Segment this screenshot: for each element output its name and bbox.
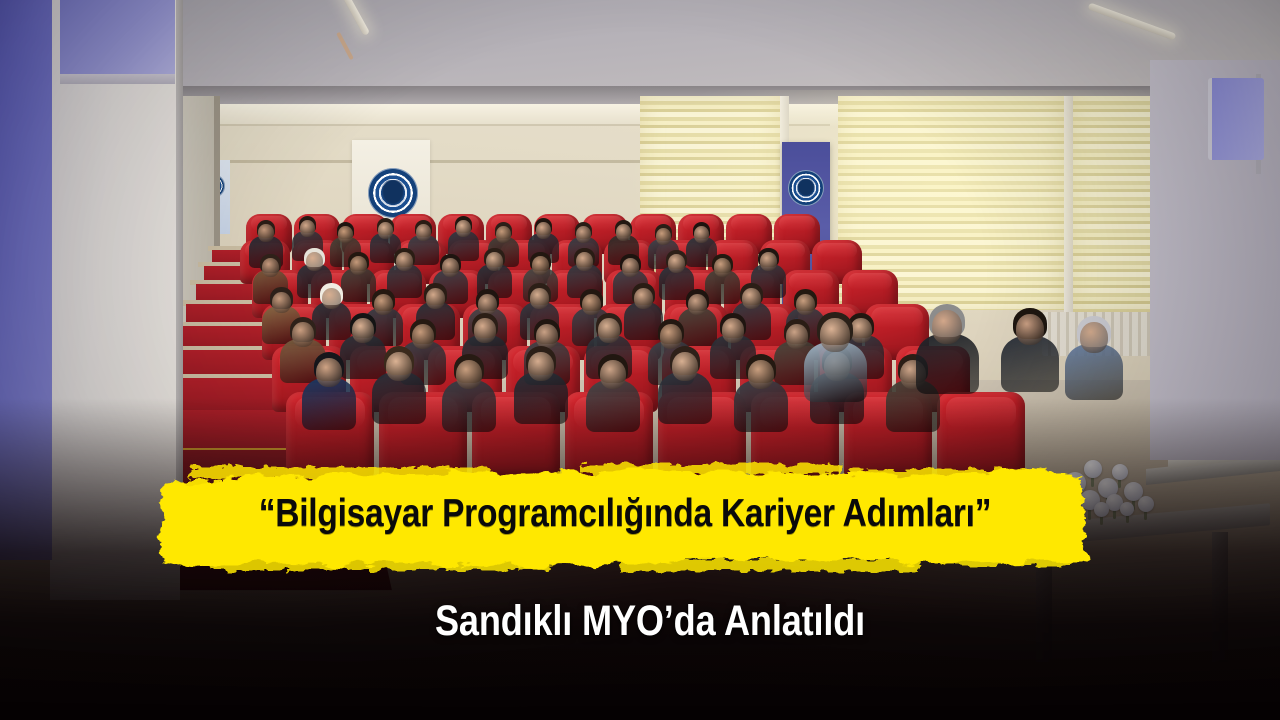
person-head (272, 292, 291, 313)
person-head (672, 352, 698, 381)
flower-bloom (1112, 464, 1128, 480)
person-head (412, 324, 434, 349)
person-head (760, 252, 777, 271)
person-head (386, 352, 412, 381)
person-head (258, 224, 274, 242)
person-head (352, 318, 374, 343)
person-head (396, 252, 413, 271)
brush-speckle-top (190, 467, 490, 479)
person-head (694, 226, 709, 243)
person-head (600, 360, 626, 389)
headline-line-1: “Bilgisayar Programcılığında Kariyer Adı… (217, 492, 1034, 536)
brush-speckle-top (580, 464, 840, 474)
flower-bloom (1138, 496, 1154, 512)
person-head (742, 288, 761, 309)
news-photo-overlay: “Bilgisayar Programcılığında Kariyer Adı… (0, 0, 1280, 720)
person-head (1080, 322, 1108, 353)
person-head (416, 224, 431, 241)
person-head (622, 258, 639, 277)
person-head (316, 358, 342, 387)
person-head (532, 256, 549, 275)
brush-speckle-bottom (210, 557, 550, 570)
university-emblem-icon (788, 170, 824, 206)
wall-speaker-icon (60, 0, 175, 78)
person-head (714, 258, 731, 277)
person-head (668, 254, 685, 273)
person-head (536, 222, 551, 239)
person-head (442, 258, 459, 277)
brush-speckle-bottom (620, 559, 920, 571)
person-head (474, 318, 496, 343)
person-head (426, 288, 445, 309)
person-head (786, 324, 808, 349)
flower-bloom (1120, 502, 1134, 516)
person-head (688, 294, 707, 315)
person-head (616, 224, 631, 241)
person-head (850, 318, 872, 343)
person-head (496, 226, 511, 243)
person-head (820, 318, 850, 352)
person-head (530, 288, 549, 309)
person-head (576, 252, 593, 271)
person-head (656, 228, 671, 245)
person-head (486, 252, 503, 271)
wall-speaker-icon (1208, 78, 1264, 160)
brush-speckle-top (850, 469, 1050, 480)
person-head (576, 226, 591, 243)
person-head (1016, 314, 1044, 345)
person-head (300, 220, 315, 237)
person-head (748, 360, 774, 389)
person-head (478, 294, 497, 315)
person-head (338, 226, 353, 243)
person-head (322, 288, 341, 309)
person-head (598, 318, 620, 343)
window-mullion (1064, 96, 1073, 312)
person-head (456, 220, 471, 237)
brush-speckle-bottom (940, 555, 1070, 566)
person-head (374, 294, 393, 315)
person-head (306, 252, 323, 271)
person-head (528, 352, 554, 381)
person-head (634, 288, 653, 309)
university-emblem-icon (368, 168, 418, 218)
person-head (350, 256, 367, 275)
table-leg (1212, 532, 1228, 662)
blue-pillar-stripe (0, 0, 52, 560)
headline-line-2: Sandıklı MYO’da Anlatıldı (230, 597, 1070, 646)
person-head (262, 258, 279, 277)
person-head (796, 294, 815, 315)
person-head (582, 294, 601, 315)
person-head (456, 360, 482, 389)
person-head (932, 310, 962, 344)
person-head (536, 324, 558, 349)
person-head (378, 222, 393, 239)
person-head (660, 324, 682, 349)
person-head (292, 322, 314, 347)
person-head (722, 318, 744, 343)
